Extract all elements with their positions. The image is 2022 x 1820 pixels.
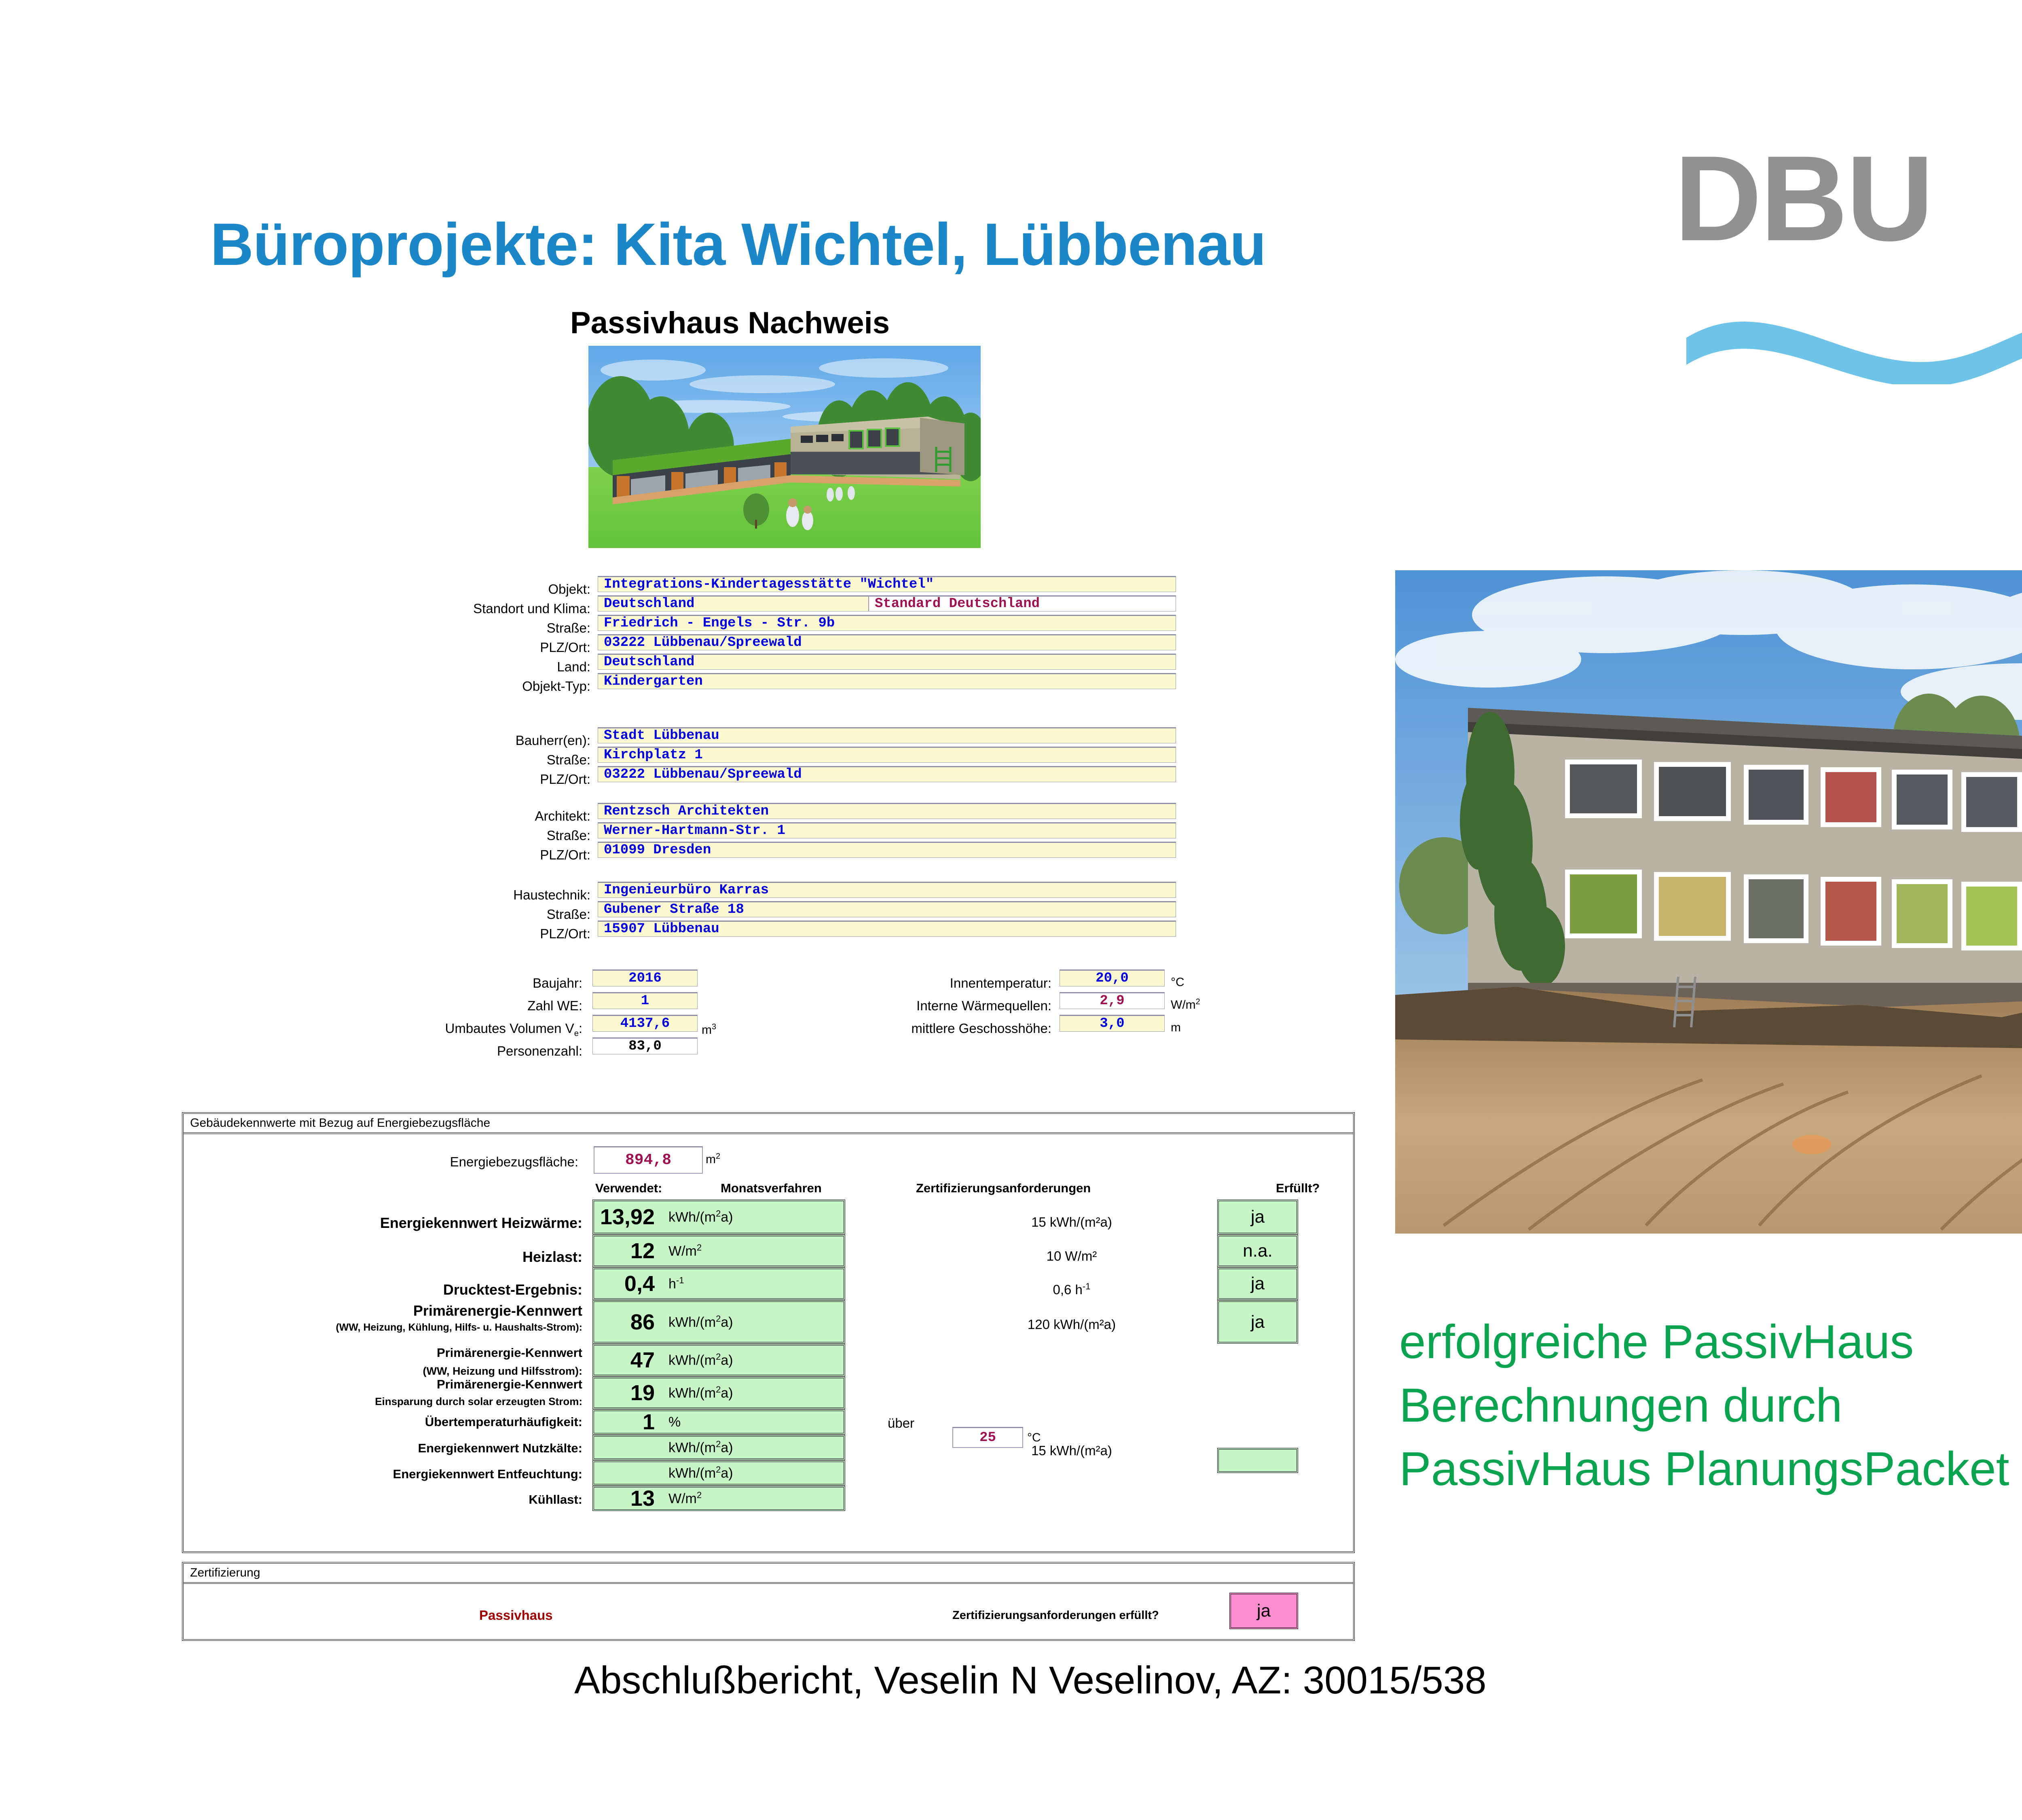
row-entfeuchtung-label: Energiekennwert Entfeuchtung: (283, 1467, 582, 1481)
land-value: Deutschland (604, 654, 694, 670)
baujahr-value: 2016 (628, 971, 662, 986)
architekt-value: Rentzsch Architekten (604, 804, 769, 819)
standort-field[interactable]: Deutschland (598, 595, 869, 612)
row-pe-full-fulfilled: ja (1251, 1312, 1265, 1332)
strasse-field[interactable]: Friedrich - Engels - Str. 9b (598, 615, 1176, 631)
certification-standard: Passivhaus (479, 1608, 553, 1623)
bauherr-strasse-field[interactable]: Kirchplatz 1 (598, 747, 1176, 763)
haustechnik-plzort-label: PLZ/Ort: (421, 926, 590, 942)
row-pe-solar-value-cell[interactable]: 19 kWh/(m2a) (592, 1377, 845, 1409)
row-heizwaerme-requirement: 15 kWh/(m²a) (890, 1215, 1254, 1230)
architekt-plzort-label: PLZ/Ort: (437, 847, 590, 863)
bauherr-strasse-value: Kirchplatz 1 (604, 747, 703, 763)
klima-field[interactable]: Standard Deutschland (869, 595, 1176, 612)
umbautes-volumen-unit: m3 (702, 1022, 716, 1037)
col-requirement-header: Zertifizierungsanforderungen (916, 1181, 1091, 1196)
interne-waermequellen-field[interactable]: 2,9 (1060, 992, 1165, 1009)
row-nutzkaelte-value-cell[interactable]: kWh/(m2a) (592, 1435, 845, 1460)
row-heizlast-fulfilled-cell[interactable]: n.a. (1217, 1235, 1298, 1267)
row-uebertemp-value: 1 (594, 1409, 660, 1435)
row-uebertemp-unit: % (668, 1414, 681, 1430)
row-heizlast-value: 12 (594, 1238, 660, 1263)
strasse-label: Straße: (445, 620, 590, 636)
interne-waermequellen-value: 2,9 (1100, 993, 1124, 1009)
row-heizwaerme-unit: kWh/(m2a) (668, 1208, 733, 1225)
row-pe-full-value: 86 (594, 1310, 660, 1335)
haustechnik-strasse-value: Gubener Straße 18 (604, 902, 744, 917)
row-pe-solar-sublabel: Einsparung durch solar erzeugten Strom: (259, 1395, 582, 1408)
geschosshoehe-unit: m (1171, 1021, 1181, 1035)
row-pe-solar-unit: kWh/(m2a) (668, 1384, 733, 1401)
energiebezugsflaeche-field[interactable]: 894,8 (594, 1146, 703, 1174)
plzort-field[interactable]: 03222 Lübbenau/Spreewald (598, 634, 1176, 650)
page-title: Büroprojekte: Kita Wichtel, Lübbenau (210, 210, 1266, 279)
row-entfeuchtung-value-cell[interactable]: kWh/(m2a) (592, 1460, 845, 1486)
certification-question: Zertifizierungsanforderungen erfüllt? (952, 1609, 1159, 1622)
haustechnik-strasse-field[interactable]: Gubener Straße 18 (598, 901, 1176, 917)
standort-value: Deutschland (604, 596, 694, 612)
construction-site-photo (1395, 570, 2022, 1234)
row-heizlast-requirement: 10 W/m² (890, 1249, 1254, 1264)
innentemperatur-label: Innentemperatur: (882, 976, 1051, 991)
architekt-label: Architekt: (437, 808, 590, 824)
row-pe-solar-label: Primärenergie-Kennwert (283, 1377, 582, 1392)
row-heizlast-fulfilled: n.a. (1243, 1241, 1272, 1261)
row-heizwaerme-fulfilled-cell[interactable]: ja (1217, 1200, 1298, 1234)
col-used-header: Verwendet: (595, 1181, 662, 1196)
row-pe-full-requirement: 120 kWh/(m²a) (890, 1317, 1254, 1332)
umbautes-volumen-label: Umbautes Volumen Ve: (376, 1021, 582, 1039)
results-panel-header: Gebäudekennwerte mit Bezug auf Energiebe… (184, 1114, 1353, 1134)
personenzahl-value: 83,0 (628, 1039, 662, 1054)
page-subtitle: Passivhaus Nachweis (570, 305, 890, 341)
geschosshoehe-value: 3,0 (1100, 1016, 1124, 1031)
row-drucktest-unit: h-1 (668, 1275, 684, 1292)
row-heizwaerme-label: Energiekennwert Heizwärme: (283, 1215, 582, 1232)
row-nutzkaelte-label: Energiekennwert Nutzkälte: (283, 1441, 582, 1456)
bauherr-plzort-field[interactable]: 03222 Lübbenau/Spreewald (598, 766, 1176, 782)
plzort-value: 03222 Lübbenau/Spreewald (604, 635, 802, 650)
row-drucktest-fulfilled-cell[interactable]: ja (1217, 1268, 1298, 1300)
bauherr-field[interactable]: Stadt Lübbenau (598, 727, 1176, 743)
row-pe-solar-value: 19 (594, 1380, 660, 1405)
dbu-mark-icon (1674, 117, 2022, 384)
bauherr-strasse-label: Straße: (437, 752, 590, 768)
geschosshoehe-label: mittlere Geschosshöhe: (865, 1021, 1051, 1036)
row-nutzkaelte-fulfilled-cell[interactable] (1217, 1448, 1298, 1473)
row-pe-full-sublabel: (WW, Heizung, Kühlung, Hilfs- u. Haushal… (251, 1322, 582, 1333)
row-drucktest-value: 0,4 (594, 1271, 660, 1296)
col-fulfilled-header: Erfüllt? (1276, 1181, 1320, 1196)
architekt-strasse-field[interactable]: Werner-Hartmann-Str. 1 (598, 822, 1176, 838)
standort-label: Standort und Klima: (417, 601, 590, 616)
col-method-header: Monatsverfahren (721, 1181, 822, 1196)
umbautes-volumen-value: 4137,6 (620, 1016, 670, 1031)
row-heizlast-value-cell[interactable]: 12 W/m2 (592, 1235, 845, 1267)
certification-answer-cell[interactable]: ja (1229, 1593, 1298, 1629)
row-uebertemp-value-cell[interactable]: 1 % (592, 1409, 845, 1435)
innentemperatur-unit: °C (1171, 976, 1184, 989)
certification-panel: Zertifizierung (182, 1562, 1355, 1641)
objekt-typ-value: Kindergarten (604, 674, 703, 689)
bauherr-value: Stadt Lübbenau (604, 728, 719, 743)
row-pe-full-fulfilled-cell[interactable]: ja (1217, 1300, 1298, 1344)
haustechnik-value: Ingenieurbüro Karras (604, 882, 769, 898)
row-pe-full-label: Primärenergie-Kennwert (283, 1302, 582, 1319)
architekt-field[interactable]: Rentzsch Architekten (598, 803, 1176, 819)
row-heizwaerme-value-cell[interactable]: 13,92 kWh/(m2a) (592, 1200, 845, 1234)
project-rendering-image (588, 346, 981, 548)
row-pe-hilf-value: 47 (594, 1348, 660, 1373)
innentemperatur-field[interactable]: 20,0 (1060, 969, 1165, 986)
footer-caption: Abschlußbericht, Veselin N Veselinov, AZ… (574, 1658, 1487, 1703)
row-pe-hilf-unit: kWh/(m2a) (668, 1352, 733, 1368)
baujahr-field[interactable]: 2016 (592, 969, 698, 986)
row-drucktest-value-cell[interactable]: 0,4 h-1 (592, 1268, 845, 1300)
haustechnik-strasse-label: Straße: (421, 907, 590, 922)
row-heizwaerme-fulfilled: ja (1251, 1207, 1265, 1227)
land-label: Land: (445, 659, 590, 675)
row-drucktest-label: Drucktest-Ergebnis: (283, 1281, 582, 1298)
umbautes-volumen-field[interactable]: 4137,6 (592, 1015, 698, 1032)
strasse-value: Friedrich - Engels - Str. 9b (604, 616, 835, 631)
row-pe-hilf-value-cell[interactable]: 47 kWh/(m2a) (592, 1344, 845, 1376)
objekt-label: Objekt: (445, 582, 590, 597)
plzort-label: PLZ/Ort: (445, 640, 590, 655)
bauherr-plzort-label: PLZ/Ort: (437, 772, 590, 787)
architekt-strasse-label: Straße: (437, 828, 590, 843)
energiebezugsflaeche-value: 894,8 (625, 1151, 671, 1169)
energiebezugsflaeche-label: Energiebezugsfläche: (384, 1154, 578, 1170)
row-heizlast-unit: W/m2 (668, 1242, 702, 1259)
row-kuehllast-unit: W/m2 (668, 1490, 702, 1507)
overtemp-prefix-label: über (888, 1416, 936, 1431)
overtemp-threshold-unit: °C (1027, 1431, 1041, 1445)
row-pe-full-unit: kWh/(m2a) (668, 1314, 733, 1330)
bauherr-label: Bauherr(en): (437, 733, 590, 748)
zahl-we-label: Zahl WE: (404, 998, 582, 1014)
row-heizlast-label: Heizlast: (283, 1249, 582, 1266)
certification-panel-header: Zertifizierung (184, 1564, 1353, 1584)
dbu-logo: DBU (1674, 117, 2022, 384)
row-pe-full-value-cell[interactable]: 86 kWh/(m2a) (592, 1300, 845, 1344)
interne-waermequellen-label: Interne Wärmequellen: (865, 998, 1051, 1014)
row-pe-hilf-label: Primärenergie-Kennwert (283, 1346, 582, 1360)
haustechnik-plzort-field[interactable]: 15907 Lübbenau (598, 921, 1176, 937)
row-kuehllast-value: 13 (594, 1486, 660, 1511)
haustechnik-field[interactable]: Ingenieurbüro Karras (598, 882, 1176, 898)
row-kuehllast-value-cell[interactable]: 13 W/m2 (592, 1486, 845, 1511)
row-heizwaerme-value: 13,92 (594, 1204, 660, 1230)
architekt-plzort-value: 01099 Dresden (604, 842, 711, 858)
innentemperatur-value: 20,0 (1096, 971, 1129, 986)
haustechnik-label: Haustechnik: (421, 887, 590, 903)
energiebezugsflaeche-unit: m2 (706, 1152, 720, 1166)
objekt-field[interactable]: Integrations-Kindertagesstätte "Wichtel" (598, 576, 1176, 592)
passivhaus-note: erfolgreiche PassivHaus Berechnungen dur… (1399, 1310, 2009, 1501)
geschosshoehe-field[interactable]: 3,0 (1060, 1015, 1165, 1032)
architekt-plzort-field[interactable]: 01099 Dresden (598, 842, 1176, 858)
architekt-strasse-value: Werner-Hartmann-Str. 1 (604, 823, 785, 838)
zahl-we-value: 1 (641, 993, 649, 1009)
personenzahl-field[interactable]: 83,0 (592, 1037, 698, 1054)
row-nutzkaelte-requirement: 15 kWh/(m²a) (890, 1443, 1254, 1458)
personenzahl-label: Personenzahl: (404, 1043, 582, 1059)
row-nutzkaelte-unit: kWh/(m2a) (668, 1439, 733, 1456)
row-pe-hilf-sublabel: (WW, Heizung und Hilfsstrom): (283, 1365, 582, 1378)
objekt-typ-label: Objekt-Typ: (445, 679, 590, 694)
interne-waermequellen-unit: W/m2 (1171, 997, 1200, 1012)
certification-answer: ja (1257, 1601, 1271, 1621)
zahl-we-field[interactable]: 1 (592, 992, 698, 1009)
land-field[interactable]: Deutschland (598, 654, 1176, 670)
bauherr-plzort-value: 03222 Lübbenau/Spreewald (604, 767, 802, 782)
row-drucktest-requirement: 0,6 h-1 (890, 1281, 1254, 1297)
haustechnik-plzort-value: 15907 Lübbenau (604, 921, 719, 937)
objekt-value: Integrations-Kindertagesstätte "Wichtel" (604, 577, 934, 592)
objekt-typ-field[interactable]: Kindergarten (598, 673, 1176, 689)
row-uebertemp-label: Übertemperaturhäufigkeit: (283, 1415, 582, 1429)
row-entfeuchtung-unit: kWh/(m2a) (668, 1464, 733, 1481)
row-drucktest-fulfilled: ja (1251, 1274, 1265, 1294)
baujahr-label: Baujahr: (404, 976, 582, 991)
row-kuehllast-label: Kühllast: (283, 1492, 582, 1507)
klima-value: Standard Deutschland (875, 596, 1040, 612)
